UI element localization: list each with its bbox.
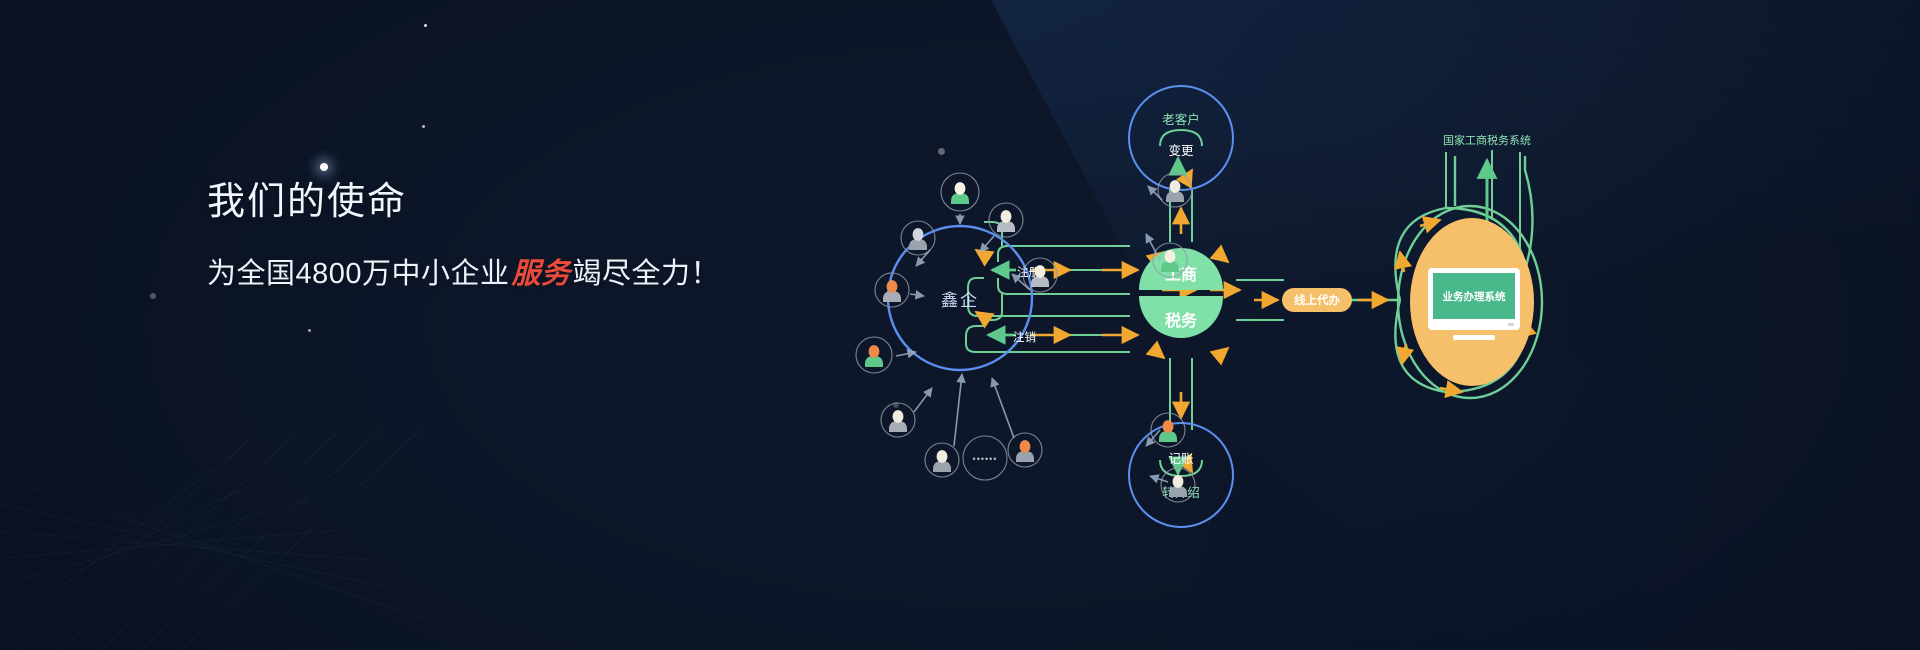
avatar[interactable] bbox=[989, 203, 1023, 237]
subtitle-lead: 为全国4800万中小企业 bbox=[207, 258, 510, 290]
avatar-head bbox=[869, 345, 880, 358]
avatar[interactable] bbox=[925, 443, 959, 477]
node-bookkeeping-label: 记账 bbox=[1168, 452, 1194, 466]
node-old-customer-label: 老客户 bbox=[1162, 112, 1200, 127]
avatar-head bbox=[1020, 440, 1031, 453]
background-mesh bbox=[0, 320, 560, 650]
label-deregister: 注销 bbox=[1013, 330, 1036, 344]
avatar-head bbox=[937, 450, 948, 463]
avatar[interactable] bbox=[1008, 433, 1042, 467]
node-online-agency-label: 线上代办 bbox=[1294, 293, 1340, 307]
avatar-head bbox=[1165, 250, 1176, 263]
service-flow-diagram: 鑫企 注册 注销 工商 税务 老客户 变更 记账 转介绍 线上代办 bbox=[880, 130, 1540, 530]
node-service-system-label: 业务办理系统 bbox=[1443, 290, 1506, 303]
sparkle-dot bbox=[422, 125, 425, 128]
avatar-head bbox=[1001, 210, 1012, 223]
node-more-customers[interactable]: •••••• bbox=[963, 436, 1007, 480]
node-service-system[interactable]: 业务办理系统 bbox=[1410, 218, 1534, 386]
node-company-label: 鑫企 bbox=[941, 291, 979, 310]
sparkle-dot bbox=[320, 163, 328, 171]
node-more-customers-label: •••••• bbox=[973, 454, 998, 464]
avatar-head bbox=[955, 182, 966, 195]
avatar-head bbox=[893, 410, 904, 423]
subtitle-highlight: 服务 bbox=[510, 258, 573, 290]
avatar-head bbox=[1173, 475, 1184, 488]
hero-banner: 我们的使命 为全国4800万中小企业服务竭尽全力！ bbox=[0, 0, 1920, 650]
page-title: 我们的使命 bbox=[207, 180, 847, 225]
avatar[interactable] bbox=[856, 337, 892, 373]
node-change-label: 变更 bbox=[1168, 143, 1194, 158]
avatar-head bbox=[887, 280, 898, 293]
node-online-agency[interactable]: 线上代办 bbox=[1282, 288, 1352, 312]
label-national-system: 国家工商税务系统 bbox=[1443, 133, 1531, 147]
avatar-head bbox=[1035, 265, 1046, 278]
hero-subtitle: 为全国4800万中小企业服务竭尽全力！ bbox=[207, 256, 847, 292]
subtitle-tail: 竭尽全力！ bbox=[573, 258, 721, 290]
avatar-head bbox=[1163, 420, 1174, 433]
sparkle-dot bbox=[424, 24, 427, 27]
avatar-head bbox=[1170, 180, 1181, 193]
node-tax-label: 税务 bbox=[1165, 311, 1198, 330]
avatar-head bbox=[913, 228, 924, 241]
avatar[interactable] bbox=[941, 173, 979, 211]
sparkle-dot bbox=[308, 329, 311, 332]
avatar[interactable] bbox=[901, 221, 935, 255]
sparkle-dot bbox=[150, 293, 156, 299]
hero-copy: 我们的使命 为全国4800万中小企业服务竭尽全力！ bbox=[207, 180, 847, 292]
avatar[interactable] bbox=[881, 403, 915, 437]
